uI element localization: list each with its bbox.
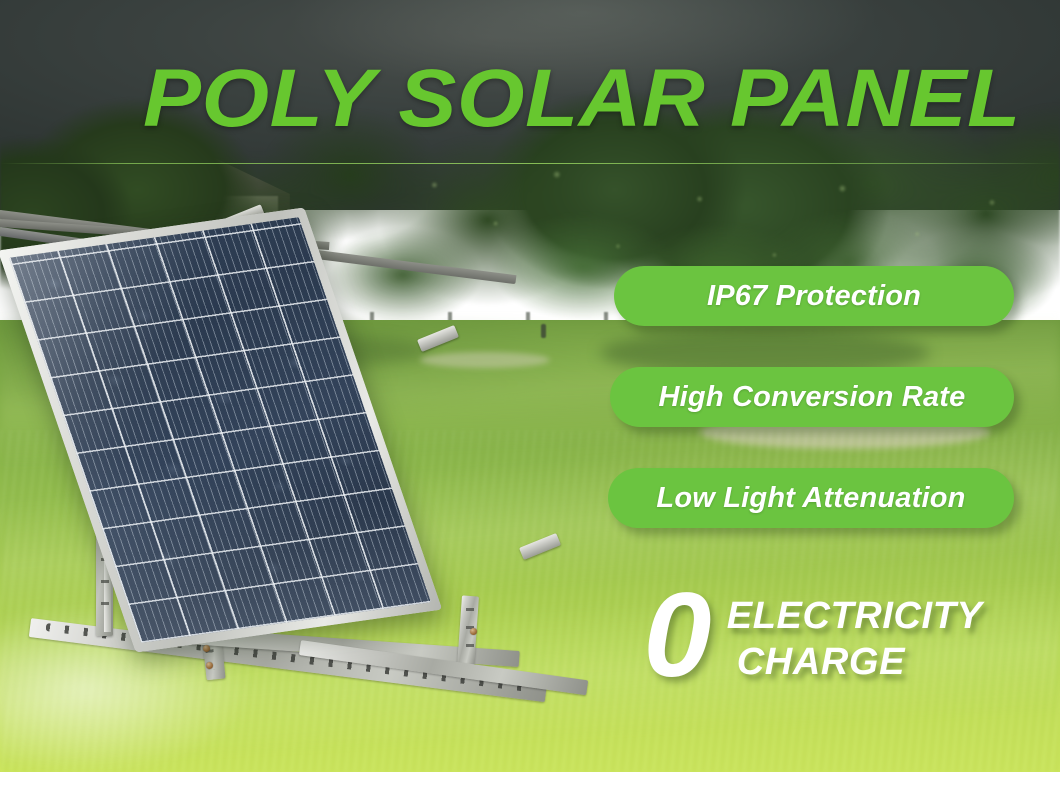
feature-pill-label: High Conversion Rate [659, 381, 966, 414]
zero-charge-text: ELECTRICITY CHARGE [727, 585, 983, 686]
glass-sheen [9, 217, 431, 643]
promotional-banner: POLY SOLAR PANEL IP67 Protection High Co… [0, 0, 1060, 790]
feature-pill-conversion-rate[interactable]: High Conversion Rate [610, 367, 1014, 427]
feature-pill-label: IP67 Protection [707, 280, 921, 313]
zero-charge-line-1: ELECTRICITY [727, 593, 983, 639]
feature-pill-list: IP67 Protection High Conversion Rate Low… [614, 266, 1014, 569]
feature-pill-label: Low Light Attenuation [656, 482, 965, 515]
feature-pill-low-light-attenuation[interactable]: Low Light Attenuation [608, 468, 1014, 528]
zero-charge-callout: 0 ELECTRICITY CHARGE [644, 580, 982, 690]
pv-cell-array [9, 217, 431, 643]
page-title: POLY SOLAR PANEL [143, 58, 980, 140]
bottom-white-band [0, 772, 1060, 790]
zero-charge-line-2: CHARGE [727, 639, 983, 685]
solar-panel-product [0, 210, 620, 710]
pv-module-wrapper [30, 205, 550, 665]
zero-number: 0 [643, 580, 711, 690]
feature-pill-ip67[interactable]: IP67 Protection [614, 266, 1014, 326]
pv-module [0, 208, 442, 653]
horizon-accent-line [0, 163, 1060, 164]
